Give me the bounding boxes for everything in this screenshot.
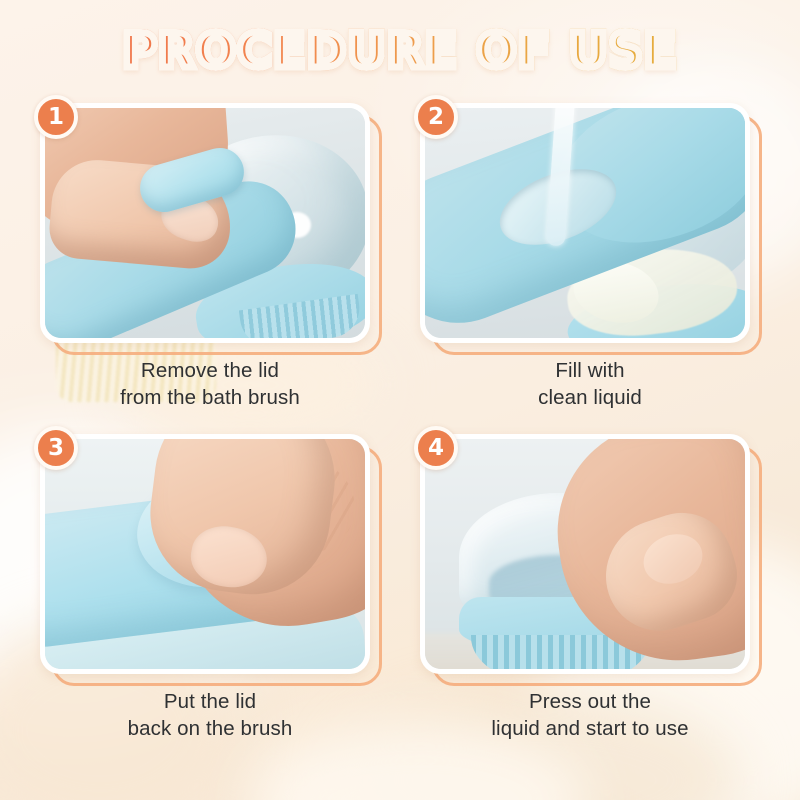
- step-badge-3: 3: [34, 426, 78, 470]
- step-caption-line2: from the bath brush: [40, 384, 380, 411]
- step-card-3: 3 Put the lid back on the brush: [40, 434, 380, 743]
- step-badge-2: 2: [414, 95, 458, 139]
- procedure-of-use-infographic: PROCEDURE OF USE: [0, 0, 800, 800]
- steps-grid: 1 Remove the lid from the bath brush: [40, 103, 760, 742]
- scene-fill-liquid: [425, 108, 745, 338]
- step-photo-stack: 1: [40, 103, 370, 343]
- step-caption-1: Remove the lid from the bath brush: [40, 357, 380, 412]
- step-caption-4: Press out the liquid and start to use: [420, 688, 760, 743]
- scene-press-out-liquid: [425, 439, 745, 669]
- step-caption-line1: Put the lid: [164, 690, 256, 713]
- scene-replace-lid: [45, 439, 365, 669]
- step-caption-2: Fill with clean liquid: [420, 357, 760, 412]
- step-card-4: 4 Press out the liquid and start to use: [420, 434, 760, 743]
- step-caption-line2: liquid and start to use: [420, 715, 760, 742]
- photo-frame: [40, 103, 370, 343]
- photo-frame: [420, 434, 750, 674]
- page-title: PROCEDURE OF USE: [122, 28, 678, 75]
- step-caption-3: Put the lid back on the brush: [40, 688, 380, 743]
- step-card-2: 2 Fill with clean liquid: [420, 103, 760, 412]
- step-badge-4: 4: [414, 426, 458, 470]
- step-photo-4: [425, 439, 745, 669]
- step-photo-2: [425, 108, 745, 338]
- page-title-container: PROCEDURE OF USE: [0, 28, 800, 75]
- step-card-1: 1 Remove the lid from the bath brush: [40, 103, 380, 412]
- step-caption-line2: clean liquid: [420, 384, 760, 411]
- step-photo-1: [45, 108, 365, 338]
- step-photo-3: [45, 439, 365, 669]
- step-photo-stack: 2: [420, 103, 750, 343]
- photo-frame: [40, 434, 370, 674]
- photo-frame: [420, 103, 750, 343]
- step-badge-1: 1: [34, 95, 78, 139]
- scene-remove-lid: [45, 108, 365, 338]
- step-caption-line1: Press out the: [529, 690, 651, 713]
- step-photo-stack: 4: [420, 434, 750, 674]
- step-caption-line1: Fill with: [555, 359, 624, 382]
- step-caption-line1: Remove the lid: [141, 359, 279, 382]
- step-photo-stack: 3: [40, 434, 370, 674]
- step-caption-line2: back on the brush: [40, 715, 380, 742]
